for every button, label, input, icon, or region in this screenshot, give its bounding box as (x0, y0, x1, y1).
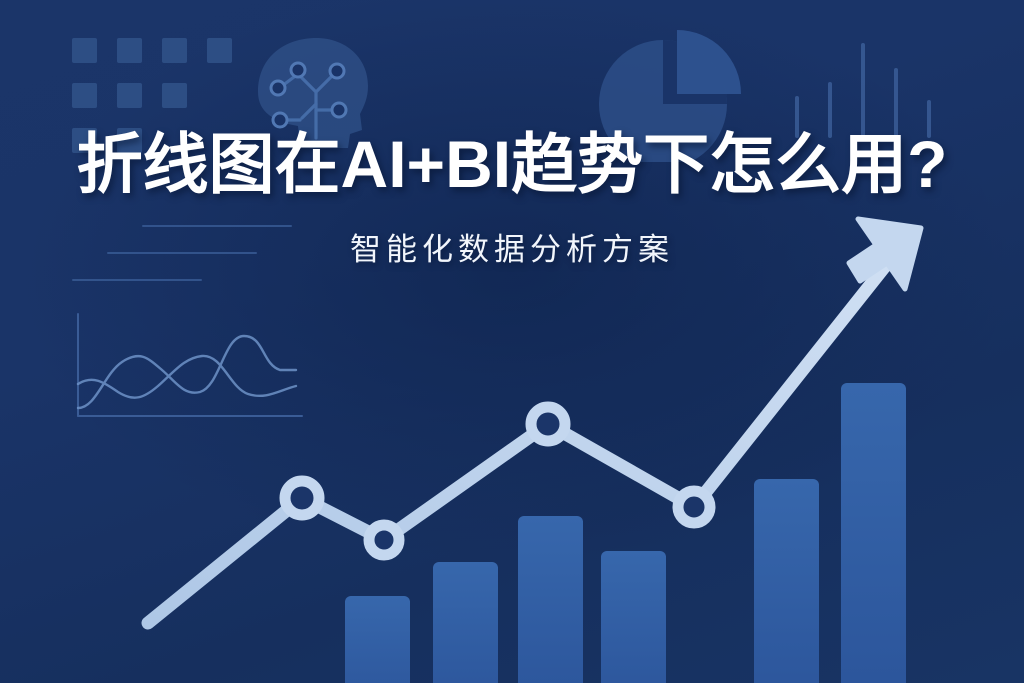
main-trend-chart (0, 0, 1024, 683)
bar (518, 516, 583, 683)
headline-block: 折线图在AI+BI趋势下怎么用? 智能化数据分析方案 (0, 128, 1024, 269)
bar (754, 479, 819, 683)
page-title: 折线图在AI+BI趋势下怎么用? (0, 128, 1024, 202)
page-subtitle: 智能化数据分析方案 (0, 224, 1024, 269)
poster-canvas: 折线图在AI+BI趋势下怎么用? 智能化数据分析方案 (0, 0, 1024, 683)
data-point-marker (531, 407, 565, 441)
bar (345, 596, 410, 683)
data-point-marker (678, 491, 710, 523)
bar (601, 551, 666, 683)
data-point-marker (285, 481, 319, 515)
bar (841, 383, 906, 683)
data-point-marker (369, 525, 399, 555)
bar (433, 562, 498, 683)
chart-bars (345, 383, 906, 683)
